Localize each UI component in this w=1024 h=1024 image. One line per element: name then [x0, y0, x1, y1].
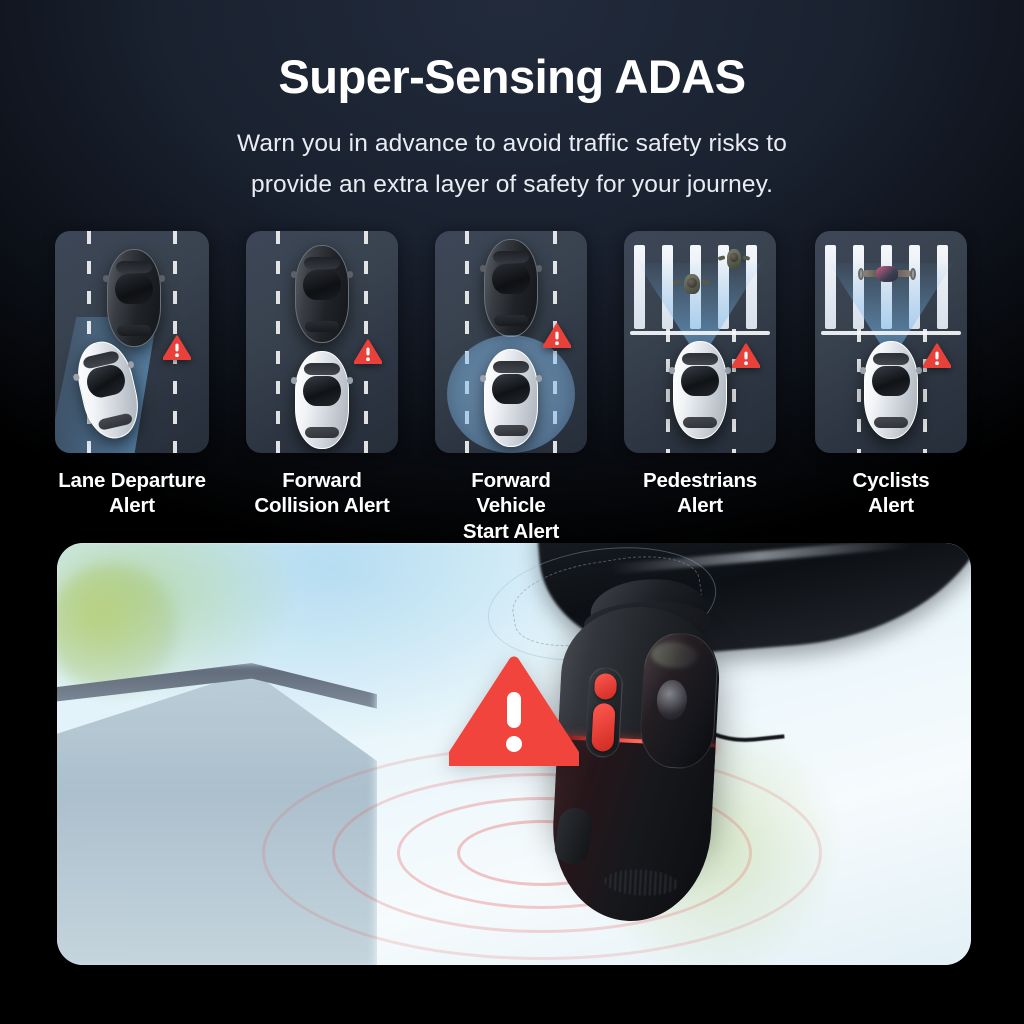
- feature-label: Lane Departure Alert: [55, 468, 209, 519]
- feature-card-lane-departure-alert[interactable]: Lane Departure Alert: [55, 231, 209, 519]
- stop-line: [821, 331, 961, 335]
- feature-card-cyclists-alert[interactable]: Cyclists Alert: [815, 231, 967, 519]
- feature-label-line-2: Alert: [55, 493, 209, 518]
- warning-triangle-icon: [163, 335, 191, 360]
- feature-label-line-1: Cyclists: [815, 468, 967, 493]
- feature-card-pedestrians-alert[interactable]: Pedestrians Alert: [624, 231, 776, 519]
- feature-cards-row: Lane Departure Alert: [0, 231, 1024, 521]
- page-header: Super-Sensing ADAS Warn you in advance t…: [0, 0, 1024, 205]
- cyclist-detection-icon: [815, 231, 967, 453]
- warning-triangle-icon: [543, 323, 571, 348]
- ego-vehicle-white: [295, 351, 349, 449]
- warning-triangle-icon: [732, 343, 760, 368]
- feature-label-line-2: Start Alert: [435, 519, 587, 544]
- ego-vehicle-white: [673, 341, 727, 439]
- pedestrian-detection-icon: [624, 231, 776, 453]
- feature-label-line-1: Forward Vehicle: [435, 468, 587, 519]
- dashcam-hero-photo: [57, 543, 971, 965]
- feature-label: Cyclists Alert: [815, 468, 967, 519]
- page-subtitle-line-1: Warn you in advance to avoid traffic saf…: [0, 123, 1024, 164]
- page-title: Super-Sensing ADAS: [0, 52, 1024, 103]
- lead-vehicle-dark: [295, 245, 349, 343]
- feature-card-forward-collision-alert[interactable]: Forward Collision Alert: [246, 231, 398, 519]
- page-subtitle-line-2: provide an extra layer of safety for you…: [0, 164, 1024, 205]
- feature-label: Forward Vehicle Start Alert: [435, 468, 587, 544]
- feature-label-line-2: Alert: [815, 493, 967, 518]
- cyclist-figure: [859, 261, 915, 287]
- warning-triangle-icon: [923, 343, 951, 368]
- feature-label-line-2: Collision Alert: [246, 493, 398, 518]
- adas-promo-page: Super-Sensing ADAS Warn you in advance t…: [0, 0, 1024, 1024]
- feature-card-forward-vehicle-start-alert[interactable]: Forward Vehicle Start Alert: [435, 231, 587, 544]
- ego-vehicle-white: [484, 349, 538, 447]
- warning-triangle-icon: [354, 339, 382, 364]
- pedestrian-figure: [720, 245, 748, 273]
- lane-departure-icon: [55, 231, 209, 453]
- lane-line-left: [857, 329, 861, 453]
- page-subtitle: Warn you in advance to avoid traffic saf…: [0, 123, 1024, 205]
- feature-label-line-1: Lane Departure: [55, 468, 209, 493]
- lane-line-left: [666, 329, 670, 453]
- forward-vehicle-start-icon: [435, 231, 587, 453]
- feature-label: Forward Collision Alert: [246, 468, 398, 519]
- dashcam-record-button[interactable]: [591, 703, 615, 752]
- forward-collision-icon: [246, 231, 398, 453]
- dashcam-lens-module: [638, 631, 719, 770]
- warning-triangle-icon: [449, 656, 579, 766]
- feature-label-line-1: Pedestrians: [624, 468, 776, 493]
- pedestrian-figure: [676, 269, 708, 299]
- feature-label-line-1: Forward: [246, 468, 398, 493]
- lead-vehicle-dark: [107, 249, 161, 347]
- feature-label-line-2: Alert: [624, 493, 776, 518]
- stop-line: [630, 331, 770, 335]
- lead-vehicle-dark: [484, 239, 538, 337]
- feature-label: Pedestrians Alert: [624, 468, 776, 519]
- ego-vehicle-white: [864, 341, 918, 439]
- lane-line-left: [276, 231, 280, 453]
